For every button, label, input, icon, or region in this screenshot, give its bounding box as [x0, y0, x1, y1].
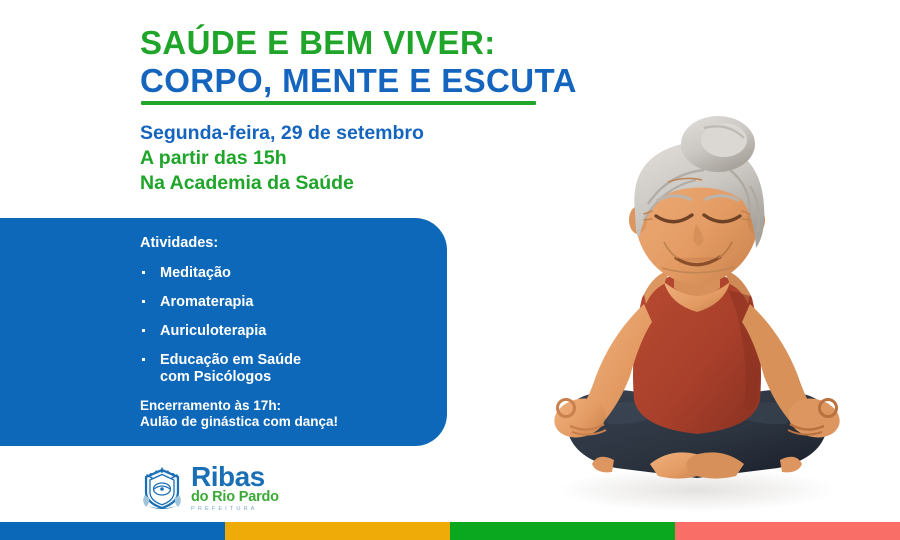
activities-title: Atividades:: [140, 234, 430, 252]
meditation-figure-icon: [492, 108, 900, 518]
page-title: SAÚDE E BEM VIVER: CORPO, MENTE E ESCUTA: [140, 24, 560, 100]
bullet-icon: [142, 300, 145, 303]
coat-of-arms-icon: [140, 465, 184, 511]
activity-sublabel: com Psicólogos: [160, 369, 430, 386]
footer-segment-salmon: [675, 522, 900, 540]
title-underline-rule: [141, 101, 536, 105]
bullet-icon: [142, 329, 145, 332]
footer-color-bar: [0, 522, 900, 540]
poster-canvas: SAÚDE E BEM VIVER: CORPO, MENTE E ESCUTA…: [0, 0, 900, 540]
logo-sub-text: do Rio Pardo: [191, 490, 279, 505]
bullet-icon: [142, 358, 145, 361]
bullet-icon: [142, 271, 145, 274]
activity-label: Aromaterapia: [160, 294, 253, 310]
logo-main-text: Ribas: [191, 463, 279, 491]
city-hall-logo: Ribas do Rio Pardo PREFEITURA: [140, 465, 279, 511]
footer-segment-yellow: [225, 522, 450, 540]
elderly-woman-meditating-illustration: [492, 108, 900, 518]
call-to-action: Participe e cuide da sua saúde.: [140, 445, 430, 461]
list-item: Auriculoterapia: [140, 323, 430, 340]
activity-label: Meditação: [160, 265, 231, 281]
activity-label: Auriculoterapia: [160, 323, 266, 339]
activities-list: Meditação Aromaterapia Auriculoterapia E…: [140, 265, 430, 386]
activities-panel: Atividades: Meditação Aromaterapia Auric…: [0, 218, 447, 446]
closing-line-2: Aulão de ginástica com dança!: [140, 414, 430, 430]
activity-label: Educação em Saúde: [160, 352, 301, 368]
footer-segment-blue: [0, 522, 225, 540]
title-line-2: CORPO, MENTE E ESCUTA: [140, 62, 560, 100]
list-item: Educação em Saúde com Psicólogos: [140, 352, 430, 386]
list-item: Aromaterapia: [140, 294, 430, 311]
logo-tiny-text: PREFEITURA: [191, 507, 279, 513]
closing-line-1: Encerramento às 17h:: [140, 398, 430, 414]
list-item: Meditação: [140, 265, 430, 282]
title-line-1: SAÚDE E BEM VIVER:: [140, 24, 560, 62]
footer-segment-green: [450, 522, 675, 540]
closing-note: Encerramento às 17h: Aulão de ginástica …: [140, 398, 430, 430]
